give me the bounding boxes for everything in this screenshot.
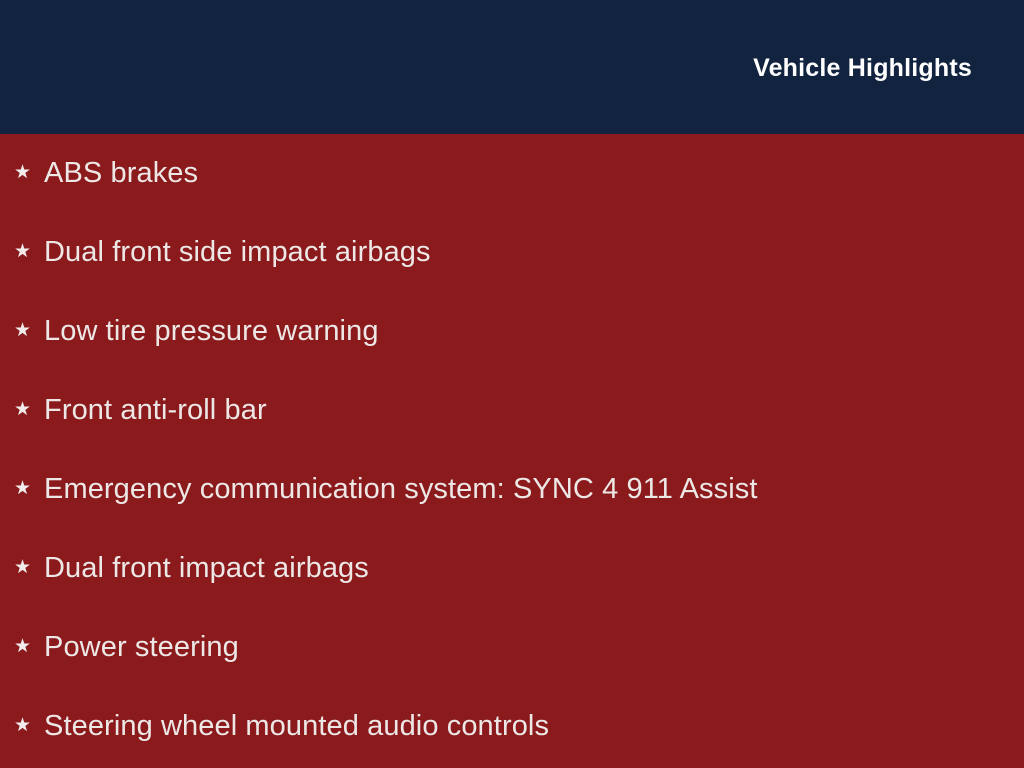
list-item: ★ Low tire pressure warning	[0, 292, 1024, 371]
feature-label: ABS brakes	[44, 158, 198, 190]
feature-label: Dual front impact airbags	[44, 553, 369, 585]
feature-label: Dual front side impact airbags	[44, 237, 431, 269]
vehicle-highlights-slide: Vehicle Highlights ★ ABS brakes ★ Dual f…	[0, 0, 1024, 768]
star-bullet-icon: ★	[14, 716, 44, 735]
star-bullet-icon: ★	[14, 479, 44, 498]
slide-body: ★ ABS brakes ★ Dual front side impact ai…	[0, 134, 1024, 768]
list-item: ★ Dual front impact airbags	[0, 529, 1024, 608]
list-item: ★ Steering wheel mounted audio controls	[0, 687, 1024, 766]
feature-label: Power steering	[44, 632, 239, 664]
list-item: ★ Dual front side impact airbags	[0, 213, 1024, 292]
list-item: ★ Emergency communication system: SYNC 4…	[0, 450, 1024, 529]
feature-label: Front anti-roll bar	[44, 395, 267, 427]
star-bullet-icon: ★	[14, 400, 44, 419]
feature-list: ★ ABS brakes ★ Dual front side impact ai…	[0, 134, 1024, 766]
page-title: Vehicle Highlights	[753, 56, 972, 81]
feature-label: Low tire pressure warning	[44, 316, 379, 348]
slide-header-band: Vehicle Highlights	[0, 0, 1024, 134]
star-bullet-icon: ★	[14, 242, 44, 261]
list-item: ★ Power steering	[0, 608, 1024, 687]
star-bullet-icon: ★	[14, 321, 44, 340]
list-item: ★ ABS brakes	[0, 134, 1024, 213]
star-bullet-icon: ★	[14, 163, 44, 182]
star-bullet-icon: ★	[14, 558, 44, 577]
star-bullet-icon: ★	[14, 637, 44, 656]
feature-label: Emergency communication system: SYNC 4 9…	[44, 474, 758, 506]
list-item: ★ Front anti-roll bar	[0, 371, 1024, 450]
feature-label: Steering wheel mounted audio controls	[44, 711, 549, 743]
